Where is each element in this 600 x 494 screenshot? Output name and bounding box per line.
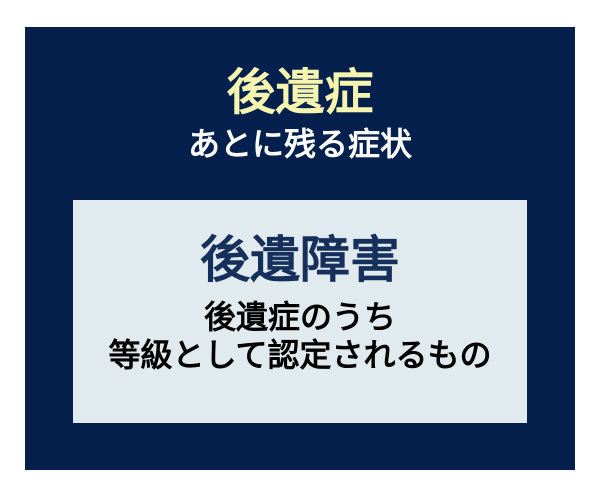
- card-header: 後遺症 あとに残る症状: [25, 67, 575, 161]
- navy-card-panel: 後遺症 あとに残る症状 後遺障害 後遺症のうち 等級として認定されるもの: [25, 27, 575, 470]
- definition-box: 後遺障害 後遺症のうち 等級として認定されるもの: [73, 200, 527, 423]
- definition-heading: 後遺障害: [73, 233, 527, 287]
- slide-canvas: 後遺症 あとに残る症状 後遺障害 後遺症のうち 等級として認定されるもの: [0, 0, 600, 494]
- definition-body-line-2: 等級として認定されるもの: [73, 337, 527, 373]
- page-subtitle: あとに残る症状: [25, 127, 575, 161]
- page-title: 後遺症: [25, 67, 575, 119]
- definition-box-content: 後遺障害 後遺症のうち 等級として認定されるもの: [73, 233, 527, 373]
- definition-body-line-1: 後遺症のうち: [73, 299, 527, 335]
